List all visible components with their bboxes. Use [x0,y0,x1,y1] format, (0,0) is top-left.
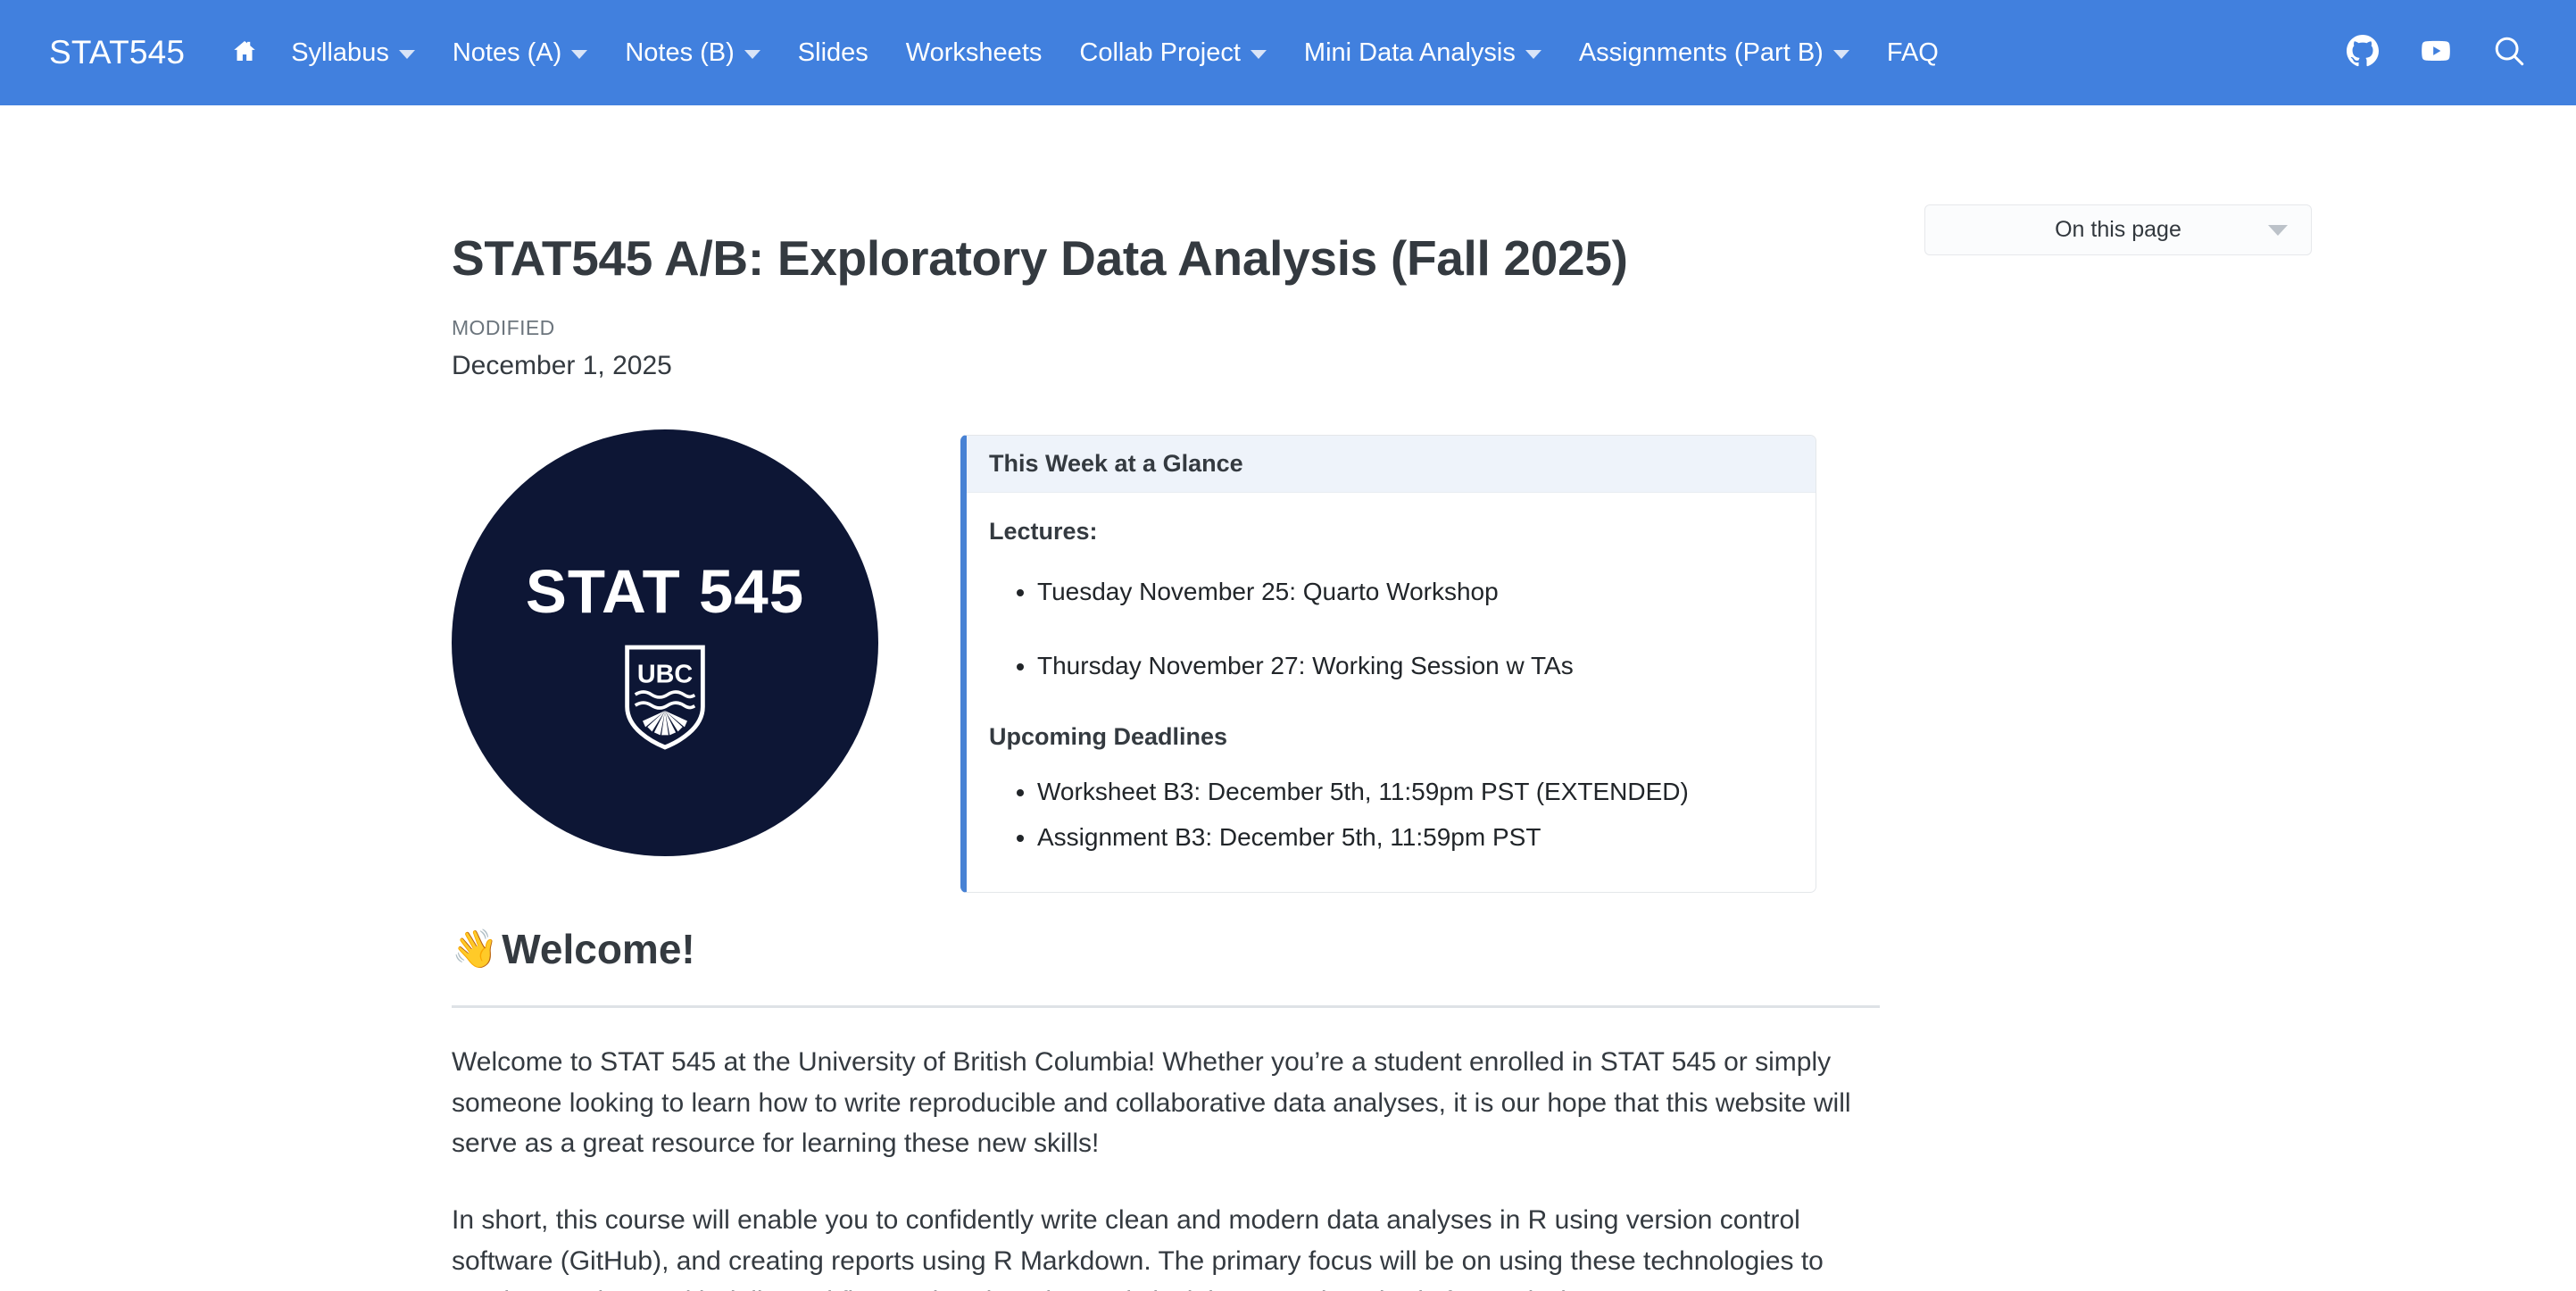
youtube-link[interactable] [2415,32,2456,73]
svg-text:UBC: UBC [637,661,693,689]
main-content: STAT545 A/B: Exploratory Data Analysis (… [452,105,1880,1291]
home-link[interactable] [217,29,272,78]
nav-label: Worksheets [906,38,1043,68]
nav-right-icons [2342,0,2530,105]
nav-item-mini-data-analysis[interactable]: Mini Data Analysis [1285,29,1560,77]
nav-label: FAQ [1887,38,1939,68]
callout-header: This Week at a Glance [967,436,1816,493]
nav-label: Mini Data Analysis [1304,38,1516,68]
list-item: Assignment B3: December 5th, 11:59pm PST [1037,820,1792,854]
nav-item-worksheets[interactable]: Worksheets [887,29,1061,77]
home-icon [231,37,258,69]
nav-label: Slides [798,38,868,68]
github-link[interactable] [2342,32,2383,73]
chevron-down-icon [1833,50,1849,59]
on-this-page-label: On this page [2055,217,2181,243]
section-divider [452,1005,1880,1008]
welcome-paragraph-2: In short, this course will enable you to… [452,1200,1871,1291]
nav-item-syllabus[interactable]: Syllabus [272,29,434,77]
chevron-down-icon [1251,50,1267,59]
nav-item-faq[interactable]: FAQ [1868,29,1957,77]
nav-item-notes-a[interactable]: Notes (A) [434,29,606,77]
page-body: On this page STAT545 A/B: Exploratory Da… [0,105,2576,1291]
nav-item-collab-project[interactable]: Collab Project [1060,29,1285,77]
ubc-shield-icon: UBC [624,645,706,754]
modified-label: MODIFIED [452,316,1880,340]
nav-item-notes-b[interactable]: Notes (B) [606,29,778,77]
github-icon [2347,35,2379,71]
on-this-page-dropdown[interactable]: On this page [1924,204,2312,255]
lectures-list: Tuesday November 25: Quarto Workshop Thu… [989,574,1792,683]
nav-label: Assignments (Part B) [1579,38,1824,68]
nav-label: Notes (A) [453,38,561,68]
waving-hand-icon: 👋 [452,930,498,968]
callout-title: This Week at a Glance [989,450,1792,478]
list-item: Worksheet B3: December 5th, 11:59pm PST … [1037,774,1792,809]
callout-body: Lectures: Tuesday November 25: Quarto Wo… [967,493,1816,892]
deadlines-heading: Upcoming Deadlines [989,723,1792,751]
chevron-down-icon [571,50,587,59]
deadlines-list: Worksheet B3: December 5th, 11:59pm PST … [989,774,1792,854]
youtube-icon [2419,34,2453,72]
top-navbar: STAT545 Syllabus Notes (A) Notes (B) Sli… [0,0,2576,105]
brand-logo[interactable]: STAT545 [49,34,185,71]
nav-label: Collab Project [1079,38,1241,68]
nav-label: Notes (B) [625,38,734,68]
week-at-a-glance-callout: This Week at a Glance Lectures: Tuesday … [960,435,1816,893]
chevron-down-icon [1525,50,1541,59]
welcome-heading: 👋 Welcome! [452,909,1880,973]
logo-text: STAT 545 [526,556,804,627]
welcome-heading-text: Welcome! [502,925,694,973]
list-item: Tuesday November 25: Quarto Workshop [1037,574,1792,609]
nav-item-slides[interactable]: Slides [779,29,887,77]
search-button[interactable] [2489,32,2530,73]
chevron-down-icon [744,50,760,59]
stat545-logo: STAT 545 UBC [452,429,878,856]
search-icon [2492,34,2526,72]
lectures-heading: Lectures: [989,518,1792,546]
chevron-down-icon [2268,225,2288,236]
modified-date: December 1, 2025 [452,351,1880,381]
list-item: Thursday November 27: Working Session w … [1037,648,1792,683]
nav-label: Syllabus [291,38,389,68]
chevron-down-icon [399,50,415,59]
page-title: STAT545 A/B: Exploratory Data Analysis (… [452,105,1880,287]
nav-items: Syllabus Notes (A) Notes (B) Slides Work… [272,29,1957,77]
hero-row: STAT 545 UBC [452,422,1880,909]
welcome-paragraph-1: Welcome to STAT 545 at the University of… [452,1042,1871,1164]
nav-item-assignments-part-b[interactable]: Assignments (Part B) [1560,29,1868,77]
